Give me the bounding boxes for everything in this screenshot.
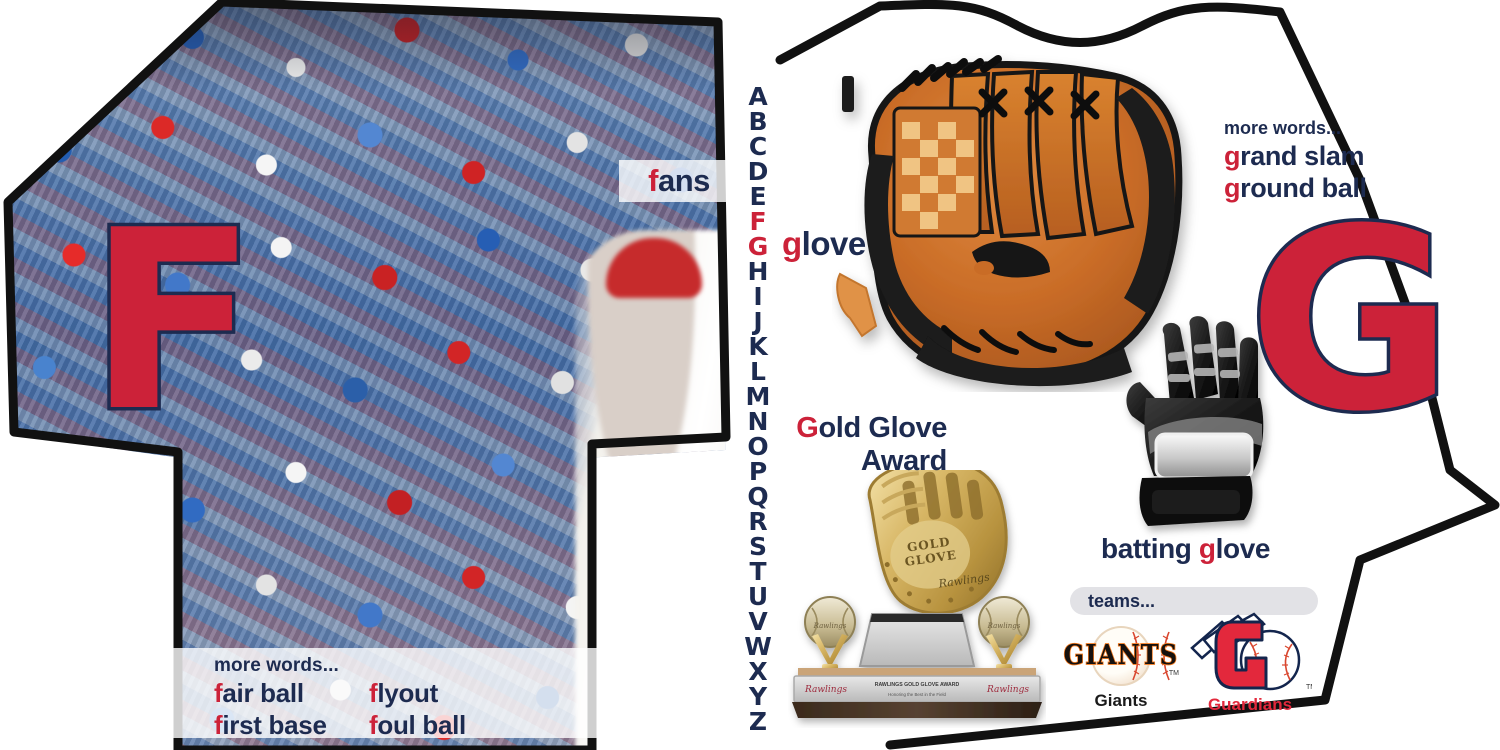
- fans-caption: fans: [648, 163, 710, 199]
- left-more-words-panel: more words... fair ball flyout first bas…: [172, 648, 740, 738]
- word-rest: lyout: [377, 678, 438, 708]
- book-spread: F fans more words... fair ball flyout fi…: [0, 0, 1500, 750]
- more-word-foul-ball: foul ball: [369, 710, 740, 741]
- word-rest: oul ball: [377, 710, 466, 740]
- crowd-photo-top-shade: [0, 0, 740, 90]
- svg-text:Rawlings: Rawlings: [813, 622, 847, 630]
- svg-text:Rawlings: Rawlings: [986, 685, 1029, 695]
- more-word-first-base: first base: [214, 710, 369, 741]
- fans-initial: f: [648, 163, 658, 198]
- left-more-words-grid: fair ball flyout first base foul ball: [214, 678, 740, 740]
- left-page: F fans more words... fair ball flyout fi…: [0, 0, 740, 750]
- big-letter-g: G: [1248, 196, 1451, 446]
- left-more-words-title: more words...: [214, 655, 740, 677]
- svg-text:Rawlings: Rawlings: [804, 685, 847, 695]
- trophy-plaque-line2: Honoring the Best in the Field: [888, 692, 946, 697]
- word-rest: air ball: [222, 678, 303, 708]
- big-letter-f: F: [88, 198, 255, 446]
- word-rest: irst base: [222, 710, 326, 740]
- more-word-fair-ball: fair ball: [214, 678, 369, 709]
- fans-caption-band: fans: [619, 160, 739, 202]
- more-word-flyout: flyout: [369, 678, 740, 709]
- gold-glove-award-trophy-photo: GOLD GLOVE Rawlings: [788, 470, 1046, 728]
- trophy-plaque-line1: RAWLINGS GOLD GLOVE AWARD: [875, 682, 960, 688]
- svg-text:Rawlings: Rawlings: [987, 622, 1021, 630]
- fans-rest: ans: [658, 163, 710, 198]
